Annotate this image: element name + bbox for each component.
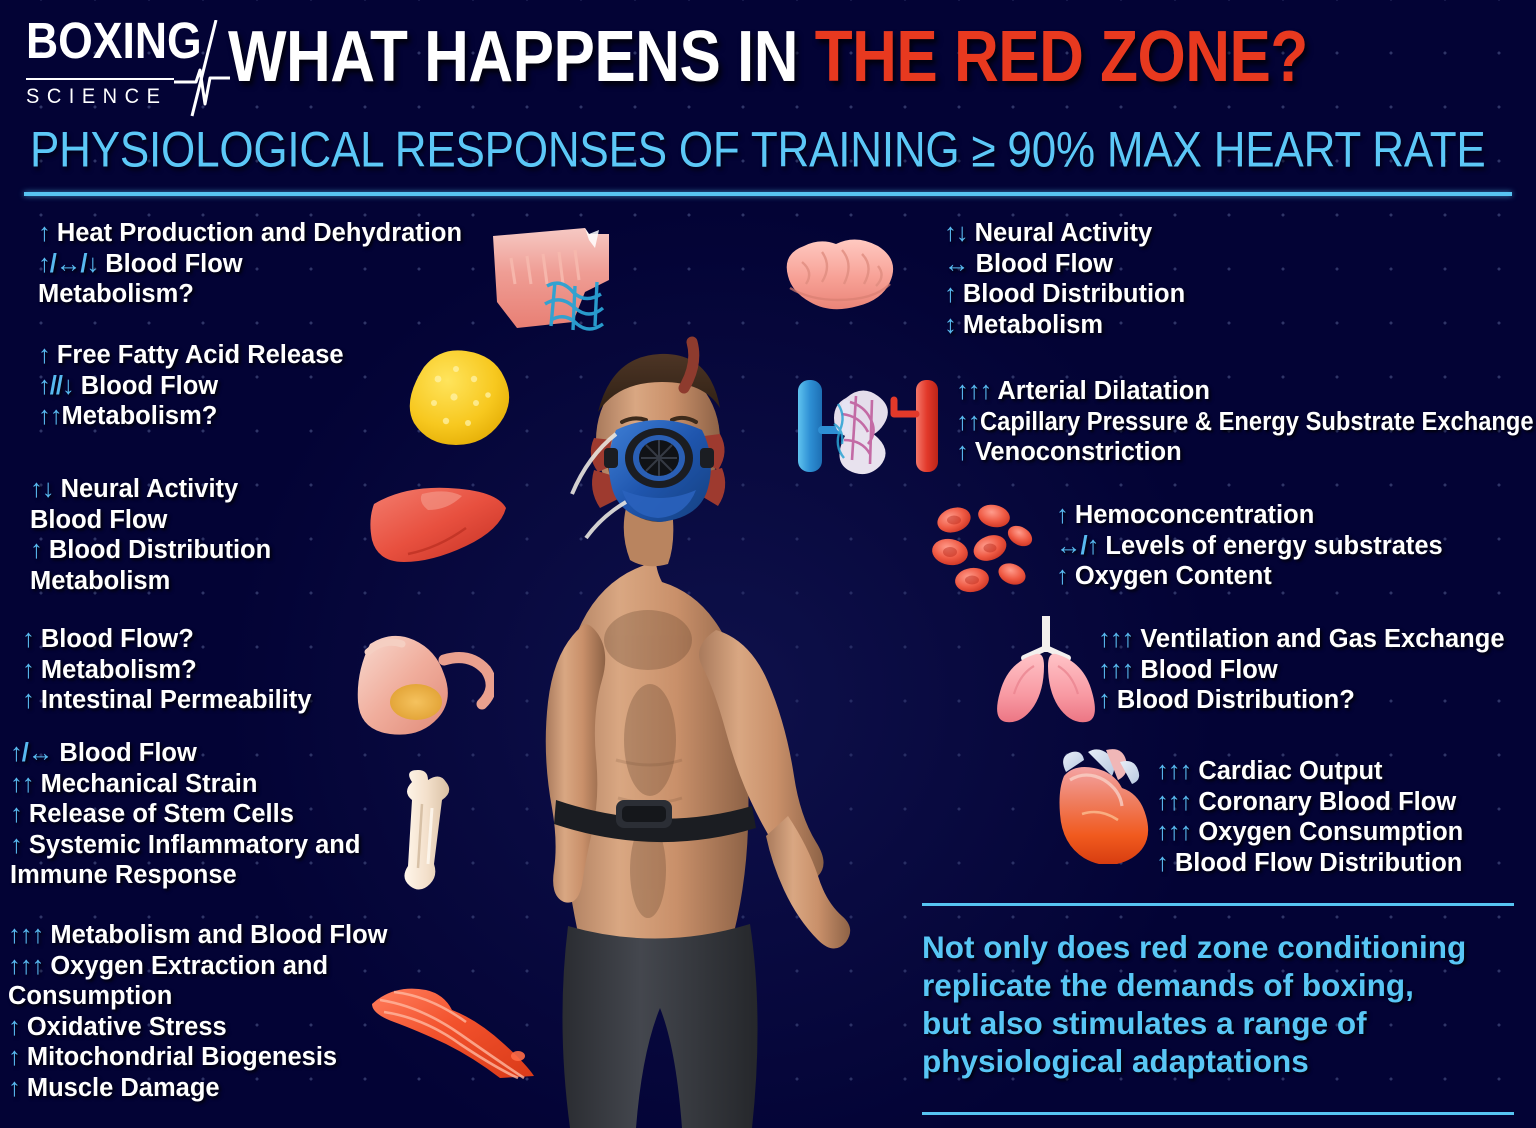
red-blood-cells-icon bbox=[928, 500, 1040, 600]
arrow-glyph: ↑↑↑ bbox=[1156, 788, 1191, 816]
line-text: Systemic Inflammatory and bbox=[22, 831, 361, 859]
arrow-glyph: ↑↑↑ bbox=[8, 952, 43, 980]
line-text: Oxygen Extraction and bbox=[43, 952, 328, 980]
text-line: ↑ Blood Flow Distribution bbox=[1156, 848, 1463, 879]
logo-primary-text: BOXING bbox=[26, 14, 185, 68]
line-text: Metabolism and Blood Flow bbox=[43, 921, 387, 949]
bone-icon bbox=[398, 768, 460, 908]
text-line: ↑ Oxygen Content bbox=[1056, 561, 1443, 592]
conclusion-line: physiological adaptations bbox=[922, 1042, 1514, 1080]
line-text: Capillary Pressure & Energy Substrate Ex… bbox=[980, 407, 1534, 438]
text-line: Consumption bbox=[8, 981, 388, 1012]
text-line: ↑ Systemic Inflammatory and bbox=[10, 830, 360, 861]
line-text: Blood Distribution? bbox=[1110, 686, 1355, 714]
text-line: Blood Flow bbox=[30, 505, 271, 536]
title-red-part: THE RED ZONE? bbox=[815, 17, 1308, 97]
line-text: Mechanical Strain bbox=[34, 770, 258, 798]
line-text: Levels of energy substrates bbox=[1098, 532, 1442, 560]
text-block-liver: ↑↓ Neural Activity Blood Flow ↑ Blood Di… bbox=[30, 474, 271, 596]
text-line: Immune Response bbox=[10, 860, 360, 891]
text-line: ↑ Muscle Damage bbox=[8, 1073, 388, 1104]
arrow-glyph: ↑↑↑ bbox=[956, 377, 991, 405]
arrow-glyph: ↑↓ bbox=[944, 219, 968, 247]
arrow-glyph: ↑/↔ bbox=[10, 739, 52, 767]
text-line: ↕ Metabolism bbox=[944, 310, 1185, 341]
arrow-glyph: ↑ bbox=[30, 536, 42, 564]
line-text: Blood Flow bbox=[1133, 656, 1277, 684]
line-text: Oxygen Content bbox=[1068, 562, 1272, 590]
page-title: WHAT HAPPENS IN THE RED ZONE? bbox=[228, 16, 1308, 98]
line-text: Metabolism? bbox=[62, 402, 218, 430]
title-white-part: WHAT HAPPENS IN bbox=[228, 17, 815, 97]
lungs-icon bbox=[988, 612, 1104, 724]
arrow-glyph: ↔ bbox=[944, 250, 969, 278]
arrow-glyph: ↑↑↑ bbox=[1098, 656, 1133, 684]
text-block-bone: ↑/↔ Blood Flow ↑↑ Mechanical Strain ↑ Re… bbox=[10, 738, 360, 891]
arrow-glyph: ↑ bbox=[1056, 562, 1068, 590]
line-text: Metabolism? bbox=[34, 656, 197, 684]
arrow-glyph: ↑↓ bbox=[30, 475, 54, 503]
text-line: ↑↑↑ Coronary Blood Flow bbox=[1156, 787, 1463, 818]
conclusion-text: Not only does red zone conditioning repl… bbox=[922, 928, 1514, 1080]
text-line: ↑↑↑ Ventilation and Gas Exchange bbox=[1098, 624, 1505, 655]
line-text: Neural Activity bbox=[968, 219, 1153, 247]
arrow-glyph: ↑ bbox=[22, 625, 34, 653]
arrow-glyph: ↑ bbox=[22, 686, 34, 714]
line-text: Venoconstriction bbox=[968, 438, 1182, 466]
conclusion-line: replicate the demands of boxing, bbox=[922, 966, 1514, 1004]
arrow-glyph: ↑ bbox=[956, 438, 968, 466]
arrow-glyph: ↑/↔/↓ bbox=[38, 250, 98, 278]
header-divider-rule bbox=[24, 192, 1512, 196]
text-line: ↔/↑ Levels of energy substrates bbox=[1056, 531, 1443, 562]
athlete-figure bbox=[498, 330, 918, 1128]
logo-secondary-text: SCIENCE bbox=[26, 83, 176, 110]
text-line: ↑↓ Neural Activity bbox=[30, 474, 271, 505]
text-block-blood: ↑ Hemoconcentration ↔/↑ Levels of energy… bbox=[1056, 500, 1443, 592]
text-line: ↑ Release of Stem Cells bbox=[10, 799, 360, 830]
line-text: Coronary Blood Flow bbox=[1191, 788, 1456, 816]
text-line: ↑ Blood Distribution bbox=[944, 279, 1185, 310]
line-text: Cardiac Output bbox=[1191, 757, 1382, 785]
text-line: ↑↑↑ Cardiac Output bbox=[1156, 756, 1463, 787]
line-text: Consumption bbox=[8, 982, 172, 1010]
infographic-poster: BOXING SCIENCE WHAT HAPPENS IN THE RED Z… bbox=[0, 0, 1536, 1128]
line-text: Blood Flow bbox=[969, 250, 1113, 278]
line-text: Arterial Dilatation bbox=[991, 377, 1210, 405]
conclusion-line: Not only does red zone conditioning bbox=[922, 928, 1514, 966]
arrow-glyph: ↑ bbox=[8, 1013, 20, 1041]
line-text: Immune Response bbox=[10, 861, 237, 889]
line-text: Blood Flow bbox=[98, 250, 242, 278]
line-text: Blood Flow bbox=[30, 506, 167, 534]
text-line: ↑ Metabolism? bbox=[22, 655, 312, 686]
heart-icon bbox=[1048, 744, 1160, 864]
arrow-glyph: ↑//↓ bbox=[38, 372, 74, 400]
text-line: ↑ Blood Distribution bbox=[30, 535, 271, 566]
line-text: Free Fatty Acid Release bbox=[50, 341, 344, 369]
text-line: ↑↑ Capillary Pressure & Energy Substrate… bbox=[956, 407, 1536, 438]
text-line: ↑ Intestinal Permeability bbox=[22, 685, 312, 716]
line-text: Blood Flow? bbox=[34, 625, 194, 653]
arrow-glyph: ↑ bbox=[8, 1074, 20, 1102]
line-text: Oxidative Stress bbox=[20, 1013, 227, 1041]
brain-icon bbox=[778, 232, 898, 318]
arrow-glyph: ↑↑ bbox=[38, 402, 62, 430]
text-block-vasculature: ↑↑↑ Arterial Dilatation ↑↑ Capillary Pre… bbox=[956, 376, 1536, 468]
text-line: ↑/↔ Blood Flow bbox=[10, 738, 360, 769]
text-block-lungs: ↑↑↑ Ventilation and Gas Exchange ↑↑↑ Blo… bbox=[1098, 624, 1505, 716]
athlete-silhouette bbox=[498, 330, 918, 1128]
text-line: ↑↑↑ Arterial Dilatation bbox=[956, 376, 1536, 407]
arrow-glyph: ↑↑↑ bbox=[8, 921, 43, 949]
line-text: Heat Production and Dehydration bbox=[50, 219, 462, 247]
text-block-skin: ↑ Heat Production and Dehydration ↑/↔/↓ … bbox=[38, 218, 462, 310]
text-line: ↑ Oxidative Stress bbox=[8, 1012, 388, 1043]
text-line: ↑ Venoconstriction bbox=[956, 437, 1536, 468]
arrow-glyph: ↑ bbox=[944, 280, 956, 308]
line-text: Blood Flow bbox=[52, 739, 196, 767]
text-line: ↑↑↑ Oxygen Extraction and bbox=[8, 951, 388, 982]
text-line: Metabolism? bbox=[38, 279, 462, 310]
arrow-glyph: ↑ bbox=[1156, 849, 1168, 877]
text-block-heart: ↑↑↑ Cardiac Output ↑↑↑ Coronary Blood Fl… bbox=[1156, 756, 1463, 878]
arrow-glyph: ↑↑ bbox=[10, 770, 34, 798]
text-line: ↑/↔/↓ Blood Flow bbox=[38, 249, 462, 280]
text-line: ↑//↓ Blood Flow bbox=[38, 371, 344, 402]
arrow-glyph: ↑ bbox=[1056, 501, 1068, 529]
text-block-brain: ↑↓ Neural Activity ↔ Blood Flow ↑ Blood … bbox=[944, 218, 1185, 340]
arrow-glyph: ↑↑↑ bbox=[1156, 818, 1191, 846]
line-text: Ventilation and Gas Exchange bbox=[1133, 625, 1504, 653]
text-block-muscle: ↑↑↑ Metabolism and Blood Flow ↑↑↑ Oxygen… bbox=[8, 920, 388, 1103]
arrow-glyph: ↑ bbox=[22, 656, 34, 684]
line-text: Release of Stem Cells bbox=[22, 800, 294, 828]
text-line: ↑↑ Mechanical Strain bbox=[10, 769, 360, 800]
text-line: ↑↑↑ Oxygen Consumption bbox=[1156, 817, 1463, 848]
logo-divider bbox=[26, 78, 174, 80]
arrow-glyph: ↑ bbox=[8, 1043, 20, 1071]
text-block-fat: ↑ Free Fatty Acid Release ↑//↓ Blood Flo… bbox=[38, 340, 344, 432]
page-subtitle: PHYSIOLOGICAL RESPONSES OF TRAINING ≥ 90… bbox=[30, 122, 1486, 179]
boxing-science-logo: BOXING SCIENCE bbox=[26, 14, 196, 106]
text-line: ↑ Blood Distribution? bbox=[1098, 685, 1505, 716]
text-line: ↑↑↑ Metabolism and Blood Flow bbox=[8, 920, 388, 951]
text-line: Metabolism bbox=[30, 566, 271, 597]
line-text: Blood Distribution bbox=[42, 536, 271, 564]
line-text: Metabolism bbox=[956, 311, 1103, 339]
text-block-gut: ↑ Blood Flow? ↑ Metabolism? ↑ Intestinal… bbox=[22, 624, 312, 716]
arrow-glyph: ↑↑↑ bbox=[1156, 757, 1191, 785]
arrow-glyph: ↑↑↑ bbox=[1098, 625, 1133, 653]
conclusion-line: but also stimulates a range of bbox=[922, 1004, 1514, 1042]
arrow-glyph: ↑ bbox=[1098, 686, 1110, 714]
text-line: ↑ Mitochondrial Biogenesis bbox=[8, 1042, 388, 1073]
arrow-glyph: ↕ bbox=[944, 311, 956, 339]
line-text: Muscle Damage bbox=[20, 1074, 220, 1102]
arrow-glyph: ↔/↑ bbox=[1056, 532, 1098, 560]
line-text: Metabolism? bbox=[38, 280, 194, 308]
line-text: Hemoconcentration bbox=[1068, 501, 1315, 529]
line-text: Intestinal Permeability bbox=[34, 686, 312, 714]
arrow-glyph: ↑ bbox=[10, 831, 22, 859]
arrow-glyph: ↑↑ bbox=[956, 408, 980, 436]
line-text: Mitochondrial Biogenesis bbox=[20, 1043, 337, 1071]
text-line: ↑↑↑ Blood Flow bbox=[1098, 655, 1505, 686]
arrow-glyph: ↑ bbox=[10, 800, 22, 828]
line-text: Blood Flow Distribution bbox=[1168, 849, 1463, 877]
text-line: ↑ Blood Flow? bbox=[22, 624, 312, 655]
line-text: Neural Activity bbox=[54, 475, 239, 503]
ecg-heartbeat-icon bbox=[174, 20, 230, 120]
arrow-glyph: ↑ bbox=[38, 341, 50, 369]
skin-cross-section-icon bbox=[489, 218, 617, 336]
text-line: ↔ Blood Flow bbox=[944, 249, 1185, 280]
liver-icon bbox=[368, 484, 508, 570]
line-text: Oxygen Consumption bbox=[1191, 818, 1463, 846]
text-line: ↑ Heat Production and Dehydration bbox=[38, 218, 462, 249]
arrow-glyph: ↑ bbox=[38, 219, 50, 247]
stomach-intestine-icon bbox=[352, 630, 494, 740]
text-line: ↑↓ Neural Activity bbox=[944, 218, 1185, 249]
line-text: Blood Distribution bbox=[956, 280, 1185, 308]
header: BOXING SCIENCE WHAT HAPPENS IN THE RED Z… bbox=[0, 0, 1536, 200]
text-line: ↑ Free Fatty Acid Release bbox=[38, 340, 344, 371]
conclusion-box: Not only does red zone conditioning repl… bbox=[922, 903, 1514, 1115]
text-line: ↑↑Metabolism? bbox=[38, 401, 344, 432]
text-line: ↑ Hemoconcentration bbox=[1056, 500, 1443, 531]
line-text: Metabolism bbox=[30, 567, 170, 595]
line-text: Blood Flow bbox=[74, 372, 218, 400]
